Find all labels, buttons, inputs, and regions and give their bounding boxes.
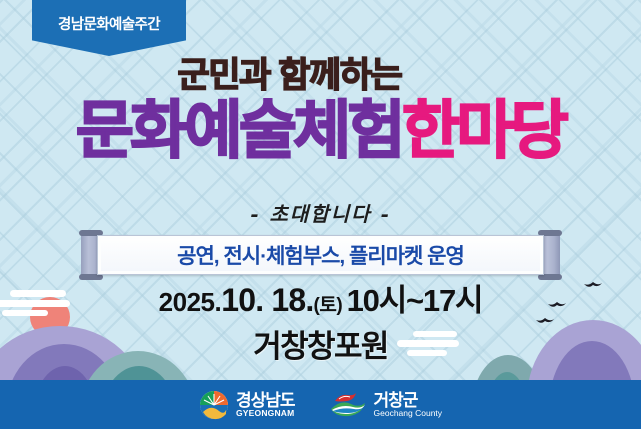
gyeongnam-name-en: GYEONGNAM [236,409,295,418]
scroll-banner-text: 공연, 전시·체험부스, 플리마켓 운영 [177,240,464,270]
headline-group: 군민과 함께하는 문화예술체험한마당 [0,57,641,164]
gyeongnam-emblem-icon [199,390,229,420]
date-line: 2025.10. 18.(토) 10시~17시 [0,283,641,319]
venue-name: 거창창포원 [0,321,641,366]
gyeongnam-logo-text: 경상남도 GYEONGNAM [236,392,295,418]
date-month-day: 10. 18. [221,282,313,318]
scroll-paper: 공연, 전시·체험부스, 플리마켓 운영 [97,235,544,275]
scroll-banner: 공연, 전시·체험부스, 플리마켓 운영 [81,231,560,279]
geochang-emblem-icon [329,392,367,418]
geochang-name-ko: 거창군 [374,392,443,409]
geochang-logo-text: 거창군 Geochang County [374,392,443,418]
headline-purple-text: 문화예술체험 [76,96,402,166]
ribbon-label: 경남문화예술주간 [58,13,160,34]
event-poster: 경남문화예술주간 군민과 함께하는 문화예술체험한마당 - 초대합니다 - 공연… [0,0,641,429]
invitation-text: - 초대합니다 - [0,198,641,227]
gyeongnam-name-ko: 경상남도 [236,392,295,409]
date-year: 2025. [159,287,222,317]
headline-line-1: 군민과 함께하는 [0,57,641,96]
logo-geochang: 거창군 Geochang County [329,392,443,418]
date-weekday: (토) [314,295,343,316]
headline-line-2: 문화예술체험한마당 [0,98,641,164]
event-time: 10시~17시 [347,283,483,318]
headline-pink-text: 한마당 [402,96,565,166]
footer-logo-bar: 경상남도 GYEONGNAM 거창군 Geochang County [0,380,641,429]
geochang-name-en: Geochang County [374,409,443,418]
logo-gyeongnam: 경상남도 GYEONGNAM [199,390,295,420]
date-venue-group: 2025.10. 18.(토) 10시~17시 거창창포원 [0,283,641,366]
